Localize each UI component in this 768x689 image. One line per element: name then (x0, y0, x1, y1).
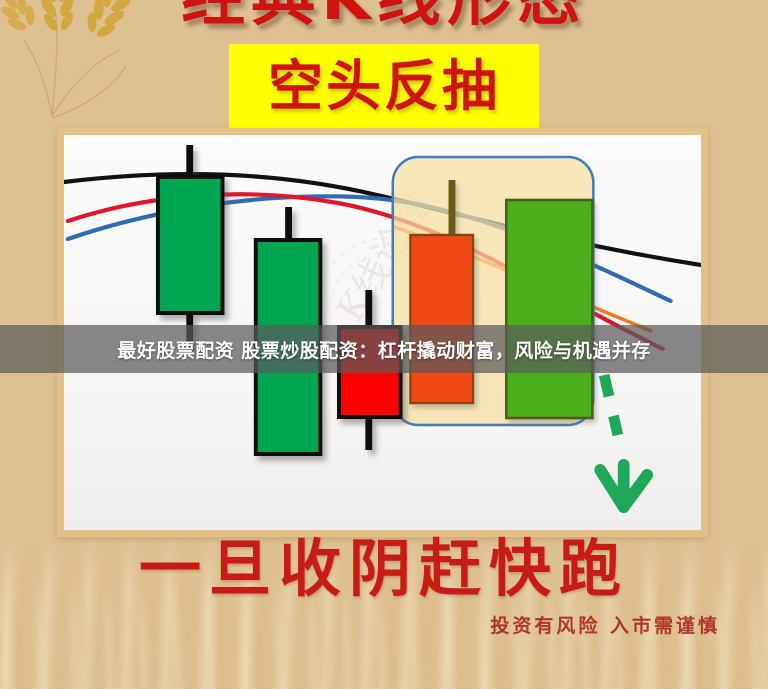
down-arrow-annotation (600, 375, 647, 507)
candle-5 (506, 200, 592, 418)
risk-disclaimer: 投资有风险 入市需谨慎 (490, 611, 720, 638)
candle-1 (158, 145, 223, 350)
wheat-sprig-icon (0, 0, 174, 136)
poster-canvas: 经典K线形态 空头反抽 K线论图 (0, 0, 768, 689)
pattern-name-banner: 空头反抽 (229, 44, 539, 128)
pattern-name-text: 空头反抽 (268, 59, 500, 114)
article-title-overlay: 最好股票配资 股票炒股配资：杠杆撬动财富，风险与机遇并存 (0, 325, 768, 373)
article-title-text: 最好股票配资 股票炒股配资：杠杆撬动财富，风险与机遇并存 (117, 336, 651, 363)
poster-bottom-slogan: 一旦收阴赶快跑 (0, 536, 768, 601)
